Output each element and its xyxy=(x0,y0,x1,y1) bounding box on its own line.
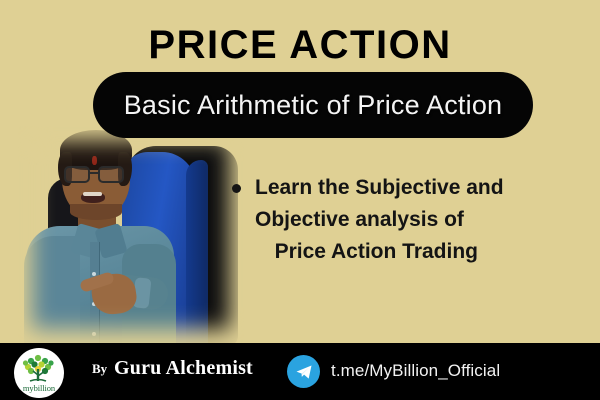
forehead-tilak xyxy=(92,156,97,165)
author-name: Guru Alchemist xyxy=(114,357,253,380)
bullet-text: Learn the Subjective and Objective analy… xyxy=(255,172,504,268)
tree-logo-icon xyxy=(22,354,56,384)
paper-plane-icon xyxy=(294,362,314,382)
poster-canvas: PRICE ACTION Basic Arithmetic of Price A… xyxy=(0,0,600,400)
by-label: By xyxy=(92,361,107,377)
telegram-icon[interactable] xyxy=(287,355,320,388)
list-item: Learn the Subjective and Objective analy… xyxy=(232,172,582,268)
footer-bar: mybillion By Guru Alchemist t.me/MyBilli… xyxy=(0,343,600,400)
shirt-button xyxy=(92,332,96,336)
chair-edge xyxy=(186,160,208,343)
logo-wordmark: mybillion xyxy=(23,383,55,393)
mybillion-logo[interactable]: mybillion xyxy=(14,348,64,398)
lens-right xyxy=(98,166,124,183)
bullet-line: Objective analysis of xyxy=(255,204,504,236)
glasses-bridge xyxy=(90,172,98,174)
eyeglasses-icon xyxy=(64,166,128,183)
bullet-line: Learn the Subjective and xyxy=(255,172,504,204)
presenter-photo xyxy=(18,126,244,343)
subtitle-banner: Basic Arithmetic of Price Action xyxy=(93,72,533,138)
presenter-chin xyxy=(70,204,122,220)
telegram-handle: t.me/MyBillion_Official xyxy=(331,361,500,381)
presenter-teeth xyxy=(83,192,102,196)
bullet-line: Price Action Trading xyxy=(255,236,504,268)
lens-left xyxy=(64,166,90,183)
page-title: PRICE ACTION xyxy=(0,24,600,66)
bullet-list: Learn the Subjective and Objective analy… xyxy=(232,172,582,268)
subtitle-text: Basic Arithmetic of Price Action xyxy=(124,90,503,121)
bullet-dot-icon xyxy=(232,184,241,193)
